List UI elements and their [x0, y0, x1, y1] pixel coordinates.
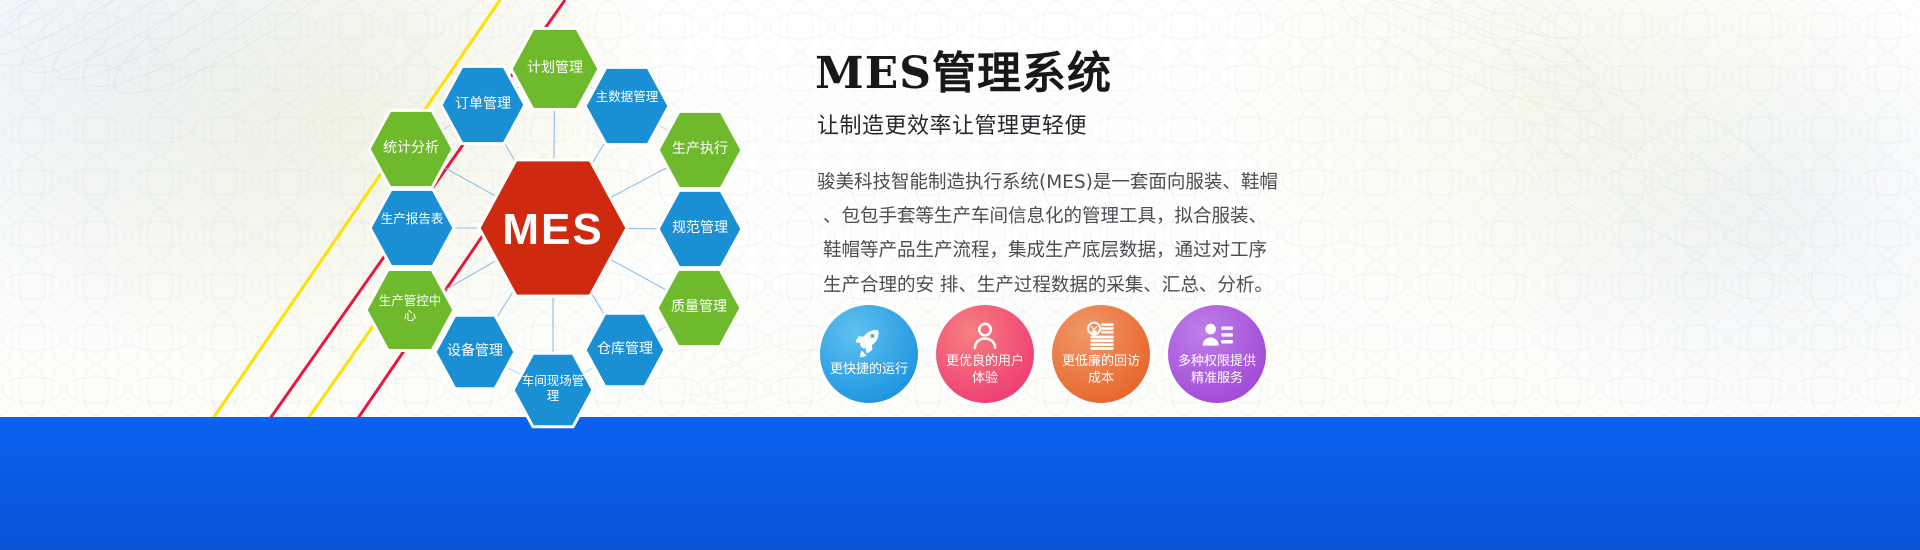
feature-badge-label: 多种权限提供 [1172, 354, 1262, 370]
description-line: 鞋帽等产品生产流程，集成生产底层数据，通过对工序 [817, 234, 1267, 268]
feature-badge-label: 体验 [940, 371, 1030, 387]
feature-badge-label: 成本 [1056, 371, 1146, 387]
user-icon [968, 319, 1002, 353]
hex-node-2[interactable] [441, 66, 525, 143]
hex-node-10[interactable] [435, 315, 515, 389]
hex-node-3[interactable] [585, 67, 669, 144]
feature-badge-list: 更快捷的运行更优良的用户体验更低廉的回访成本多种权限提供精准服务 [820, 305, 1266, 403]
feature-badge-label: 精准服务 [1172, 371, 1262, 387]
description-paragraph: 骏美科技智能制造执行系统(MES)是一套面向服装、鞋帽、包包手套等生产车间信息化… [817, 166, 1267, 303]
feature-badge-1[interactable]: 更快捷的运行 [820, 305, 918, 403]
hex-node-6[interactable] [370, 189, 454, 266]
banner-root: 计划管理订单管理主数据管理统计分析生产执行生产报告表规范管理生产管控中心质量管理… [0, 0, 1920, 550]
hex-node-9[interactable] [657, 269, 741, 346]
rocket-icon [852, 327, 886, 361]
user-list-icon [1200, 319, 1234, 353]
feature-badge-3[interactable]: 更低廉的回访成本 [1052, 305, 1150, 403]
feature-badge-label: 更优良的用户 [940, 354, 1030, 370]
coins-icon [1084, 319, 1118, 353]
feature-badge-label: 更低廉的回访 [1056, 354, 1146, 370]
page-subtitle: 让制造更效率让管理更轻便 [817, 108, 1815, 140]
blue-band [0, 417, 1920, 550]
description-line: 生产合理的安 排、生产过程数据的采集、汇总、分析。 [817, 269, 1267, 303]
hex-node-1[interactable] [511, 29, 599, 110]
text-column: MES管理系统 让制造更效率让管理更轻便 骏美科技智能制造执行系统(MES)是一… [815, 52, 1815, 303]
description-line: 、包包手套等生产车间信息化的管理工具，拟合服装、 [817, 200, 1267, 234]
hex-node-4[interactable] [369, 110, 453, 187]
hex-node-5[interactable] [658, 111, 742, 188]
feature-badge-label: 更快捷的运行 [824, 362, 914, 378]
feature-badge-4[interactable]: 多种权限提供精准服务 [1168, 305, 1266, 403]
hex-node-11[interactable] [585, 313, 665, 387]
page-title: MES管理系统 [815, 52, 1815, 96]
description-line: 骏美科技智能制造执行系统(MES)是一套面向服装、鞋帽 [817, 166, 1267, 200]
hex-node-12[interactable] [513, 353, 593, 427]
hex-node-7[interactable] [658, 190, 742, 267]
mes-hexagon-diagram: 计划管理订单管理主数据管理统计分析生产执行生产报告表规范管理生产管控中心质量管理… [340, 16, 790, 436]
feature-badge-2[interactable]: 更优良的用户体验 [936, 305, 1034, 403]
hex-center-mes[interactable] [479, 160, 627, 296]
hexagon-svg [340, 16, 790, 436]
